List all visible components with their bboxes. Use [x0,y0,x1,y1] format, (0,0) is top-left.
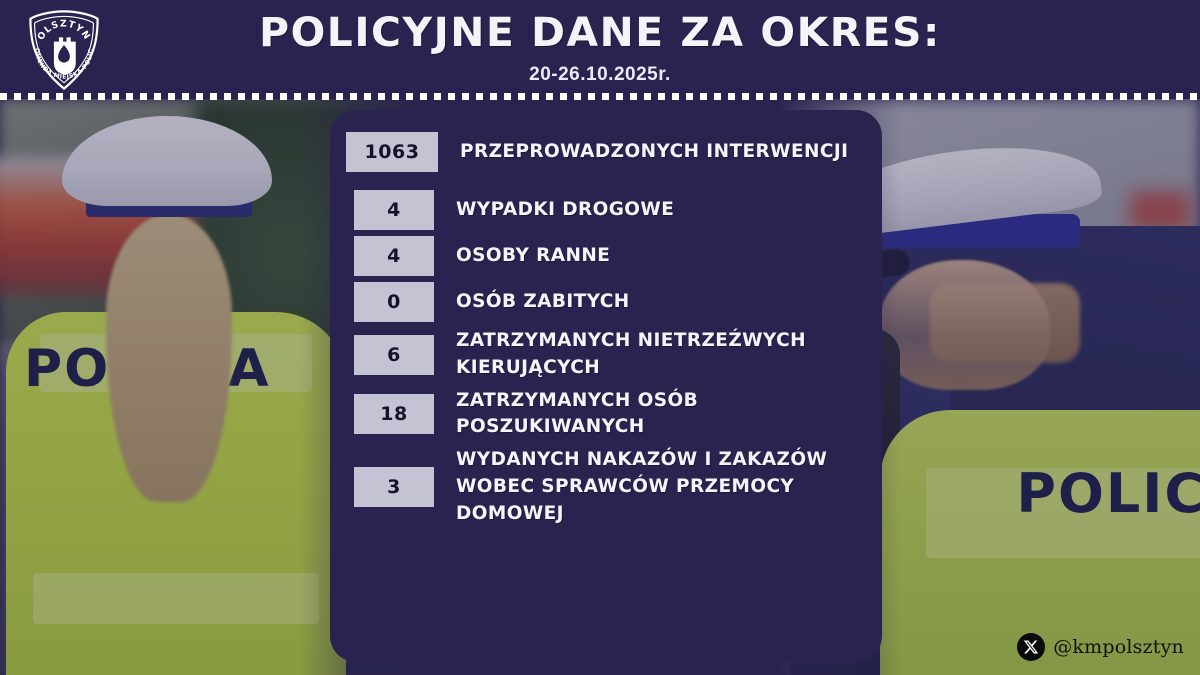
statistics-panel: 1063 PRZEPROWADZONYCH INTERWENCJI 4 WYPA… [330,110,882,662]
stat-label: ZATRZYMANYCH NIETRZEŹWYCH KIERUJĄCYCH [456,328,882,382]
stat-row: 0 OSÓB ZABITYCH [330,282,882,322]
header-bar: OLSZTYN KOMENDA MIEJSKA POLICJI POLICYJN… [0,0,1200,99]
social-watermark[interactable]: @kmpolsztyn [1017,633,1184,661]
stat-label: WYPADKI DROGOWE [456,197,674,224]
stat-value-badge: 3 [354,467,434,507]
vest-text-right: POLIC [1016,462,1200,525]
stat-row: 18 ZATRZYMANYCH OSÓB POSZUKIWANYCH [330,388,882,442]
stat-row: 3 WYDANYCH NAKAZÓW I ZAKAZÓW WOBEC SPRAW… [330,447,882,527]
stat-row: 4 OSOBY RANNE [330,236,882,276]
stat-row: 6 ZATRZYMANYCH NIETRZEŹWYCH KIERUJĄCYCH [330,328,882,382]
officer-head [880,260,1050,390]
svg-text:OLSZTYN: OLSZTYN [35,18,92,42]
stat-label: ZATRZYMANYCH OSÓB POSZUKIWANYCH [456,388,882,442]
x-twitter-icon[interactable] [1017,633,1045,661]
header-divider [0,93,1200,100]
stat-value-badge: 0 [354,282,434,322]
infographic-canvas: POLICJA POLIC [0,0,1200,675]
header-title-group: POLICYJNE DANE ZA OKRES: 20-26.10.2025r. [150,10,1050,86]
stat-value-badge: 18 [354,394,434,434]
stat-value-badge: 6 [354,335,434,375]
page-title: POLICYJNE DANE ZA OKRES: [141,10,1059,56]
stat-label: OSOBY RANNE [456,243,610,270]
stat-value-badge: 4 [354,236,434,276]
police-shield-badge-icon: OLSZTYN KOMENDA MIEJSKA POLICJI [22,8,106,92]
officer-hair [106,214,232,502]
stat-label: WYDANYCH NAKAZÓW I ZAKAZÓW WOBEC SPRAWCÓ… [456,447,882,527]
stat-row: 4 WYPADKI DROGOWE [330,190,882,230]
stat-label: PRZEPROWADZONYCH INTERWENCJI [460,139,848,166]
stat-label: OSÓB ZABITYCH [456,289,630,316]
stat-row: 1063 PRZEPROWADZONYCH INTERWENCJI [330,132,882,172]
date-range-subtitle: 20-26.10.2025r. [150,64,1050,86]
stat-value-badge: 4 [354,190,434,230]
stat-value-badge: 1063 [346,132,438,172]
watermark-handle: @kmpolsztyn [1053,636,1184,658]
